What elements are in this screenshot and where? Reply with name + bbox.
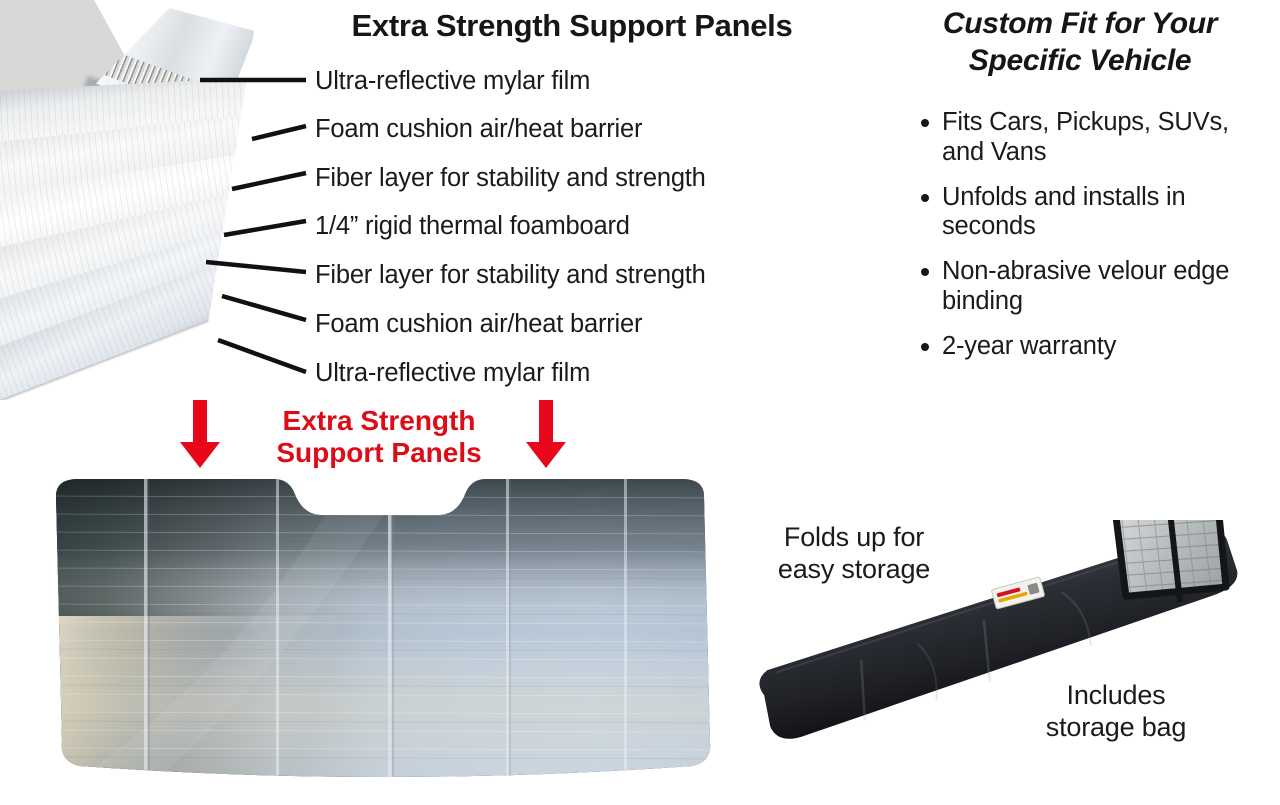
- feature-text: Unfolds and installs in seconds: [942, 183, 1185, 241]
- list-item: 2-year warranty: [918, 332, 1268, 362]
- folds-line-2: easy storage: [746, 554, 962, 586]
- support-panels-callout: Extra Strength Support Panels: [248, 405, 510, 470]
- sunshade-product-photo: [36, 466, 736, 796]
- list-item: Unfolds and installs in seconds: [918, 183, 1268, 243]
- list-item: Non-abrasive velour edge binding: [918, 257, 1268, 317]
- includes-bag-caption: Includes storage bag: [1002, 680, 1230, 744]
- arrow-down-icon-left: [178, 400, 222, 470]
- layer-label-7: Ultra-reflective mylar film: [315, 359, 590, 388]
- page-title-custom-fit: Custom Fit for Your Specific Vehicle: [890, 6, 1270, 79]
- bullet-icon: [921, 119, 929, 127]
- layer-label-6: Foam cushion air/heat barrier: [315, 310, 642, 339]
- arrow-down-icon-right: [524, 400, 568, 470]
- feature-text: 2-year warranty: [942, 332, 1116, 360]
- bullet-icon: [921, 194, 929, 202]
- feature-list: Fits Cars, Pickups, SUVs, and Vans Unfol…: [918, 108, 1268, 377]
- custom-fit-line-2: Specific Vehicle: [890, 43, 1270, 80]
- feature-text: Fits Cars, Pickups, SUVs, and Vans: [942, 108, 1229, 166]
- callout-line-1: Extra Strength: [248, 405, 510, 437]
- includes-line-2: storage bag: [1002, 712, 1230, 744]
- bullet-icon: [921, 343, 929, 351]
- layer-label-4: 1/4” rigid thermal foamboard: [315, 212, 630, 241]
- list-item: Fits Cars, Pickups, SUVs, and Vans: [918, 108, 1268, 168]
- folds-up-caption: Folds up for easy storage: [746, 522, 962, 586]
- layer-cutaway-photo: [0, 0, 300, 400]
- product-infographic: Extra Strength Support Panels Ultra-refl…: [0, 0, 1280, 805]
- page-title-support-panels: Extra Strength Support Panels: [312, 8, 832, 44]
- feature-text: Non-abrasive velour edge binding: [942, 257, 1229, 315]
- includes-line-1: Includes: [1002, 680, 1230, 712]
- folds-line-1: Folds up for: [746, 522, 962, 554]
- layer-label-3: Fiber layer for stability and strength: [315, 164, 706, 193]
- custom-fit-line-1: Custom Fit for Your: [890, 6, 1270, 43]
- bullet-icon: [921, 268, 929, 276]
- layer-label-2: Foam cushion air/heat barrier: [315, 115, 642, 144]
- layer-label-1: Ultra-reflective mylar film: [315, 67, 590, 96]
- layer-label-5: Fiber layer for stability and strength: [315, 261, 706, 290]
